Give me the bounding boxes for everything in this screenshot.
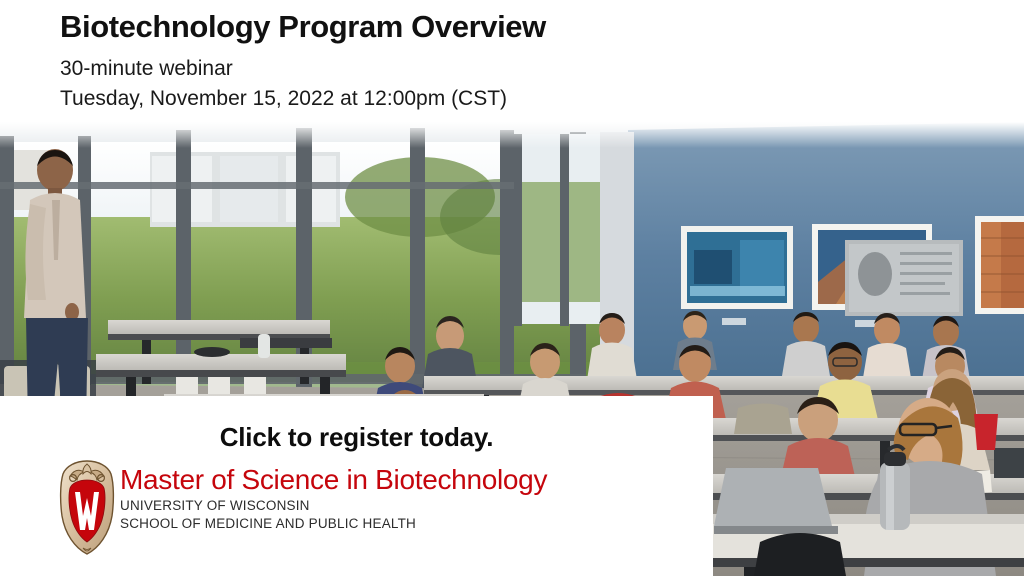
webinar-datetime: Tuesday, November 15, 2022 at 12:00pm (C… [60, 88, 507, 109]
register-cta-text[interactable]: Click to register today. [0, 424, 713, 450]
water-bottle [880, 446, 910, 530]
program-name: Master of Science in Biotechnology [120, 465, 547, 494]
uw-crest-svg [56, 458, 118, 556]
university-name: UNIVERSITY OF WISCONSIN [120, 497, 547, 515]
school-name: SCHOOL OF MEDICINE AND PUBLIC HEALTH [120, 515, 547, 533]
uw-msb-logo-lockup[interactable]: Master of Science in Biotechnology UNIVE… [56, 458, 676, 558]
webinar-duration: 30-minute webinar [60, 58, 233, 79]
page-title: Biotechnology Program Overview [60, 11, 546, 42]
uw-crest-icon [56, 458, 118, 556]
logo-text-block: Master of Science in Biotechnology UNIVE… [120, 465, 547, 533]
webinar-promo-slide: Biotechnology Program Overview 30-minute… [0, 0, 1024, 576]
header-text-block: Biotechnology Program Overview 30-minute… [0, 0, 1024, 122]
